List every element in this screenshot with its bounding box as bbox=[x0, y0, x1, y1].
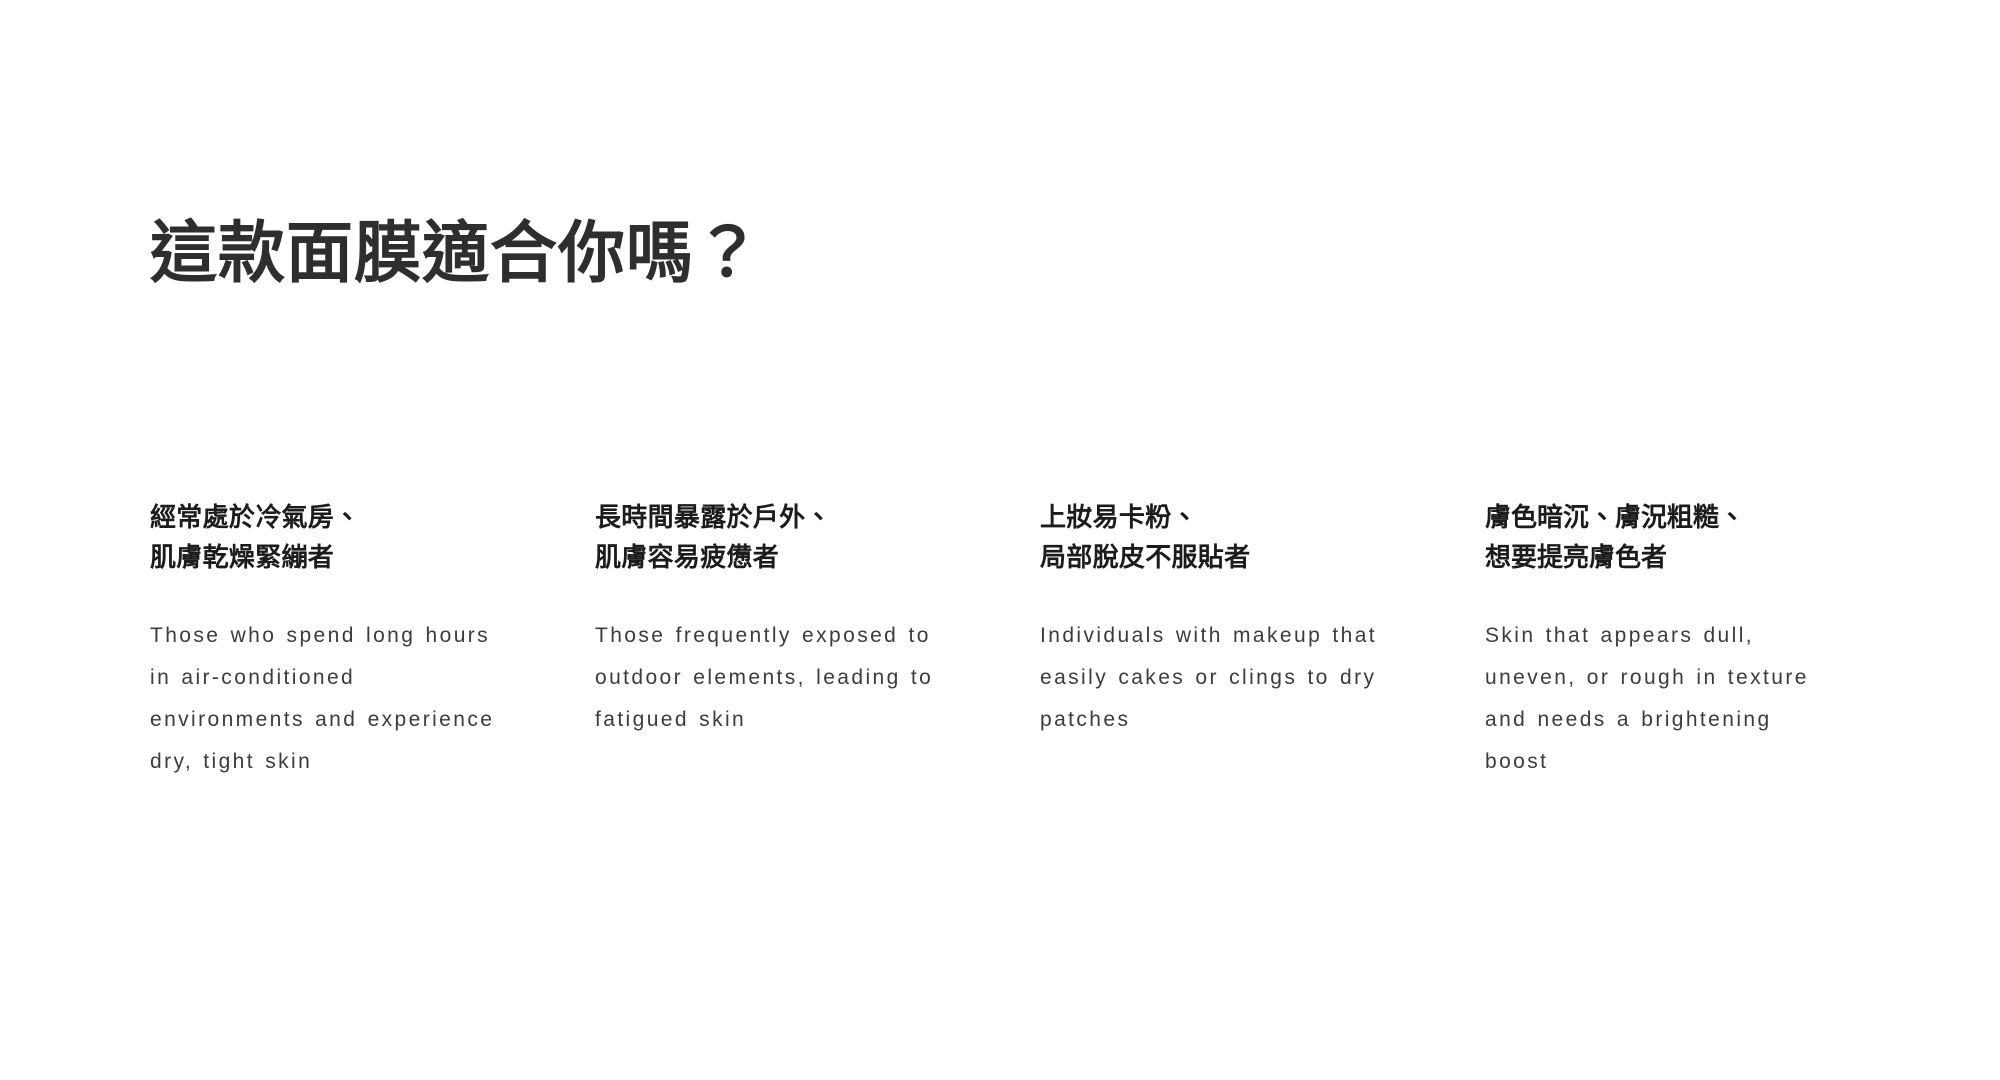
suitability-column-4: 膚色暗沉、膚況粗糙、 想要提亮膚色者 Skin that appears dul… bbox=[1485, 498, 1843, 783]
suitability-columns: 經常處於冷氣房、 肌膚乾燥緊繃者 Those who spend long ho… bbox=[150, 498, 1900, 783]
column-heading-2-line-1: 長時間暴露於戶外、 bbox=[595, 498, 953, 538]
slide-root: 這款面膜適合你嗎？ 經常處於冷氣房、 肌膚乾燥緊繃者 Those who spe… bbox=[0, 0, 2000, 1080]
column-heading-3-line-1: 上妝易卡粉、 bbox=[1040, 498, 1398, 538]
column-heading-3: 上妝易卡粉、 局部脫皮不服貼者 bbox=[1040, 498, 1398, 577]
column-heading-4: 膚色暗沉、膚況粗糙、 想要提亮膚色者 bbox=[1485, 498, 1843, 577]
suitability-column-3: 上妝易卡粉、 局部脫皮不服貼者 Individuals with makeup … bbox=[1040, 498, 1398, 741]
column-body-3: Individuals with makeup that easily cake… bbox=[1040, 615, 1398, 741]
column-heading-4-line-2: 想要提亮膚色者 bbox=[1485, 538, 1843, 578]
page-title: 這款面膜適合你嗎？ bbox=[150, 213, 762, 295]
column-heading-1-line-2: 肌膚乾燥緊繃者 bbox=[150, 538, 508, 578]
column-heading-2: 長時間暴露於戶外、 肌膚容易疲憊者 bbox=[595, 498, 953, 577]
column-heading-3-line-2: 局部脫皮不服貼者 bbox=[1040, 538, 1398, 578]
column-heading-4-line-1: 膚色暗沉、膚況粗糙、 bbox=[1485, 498, 1843, 538]
column-heading-1: 經常處於冷氣房、 肌膚乾燥緊繃者 bbox=[150, 498, 508, 577]
column-body-4: Skin that appears dull, uneven, or rough… bbox=[1485, 615, 1843, 783]
column-heading-1-line-1: 經常處於冷氣房、 bbox=[150, 498, 508, 538]
column-body-1: Those who spend long hours in air-condit… bbox=[150, 615, 508, 783]
column-body-2: Those frequently exposed to outdoor elem… bbox=[595, 615, 953, 741]
suitability-column-1: 經常處於冷氣房、 肌膚乾燥緊繃者 Those who spend long ho… bbox=[150, 498, 508, 783]
column-heading-2-line-2: 肌膚容易疲憊者 bbox=[595, 538, 953, 578]
suitability-column-2: 長時間暴露於戶外、 肌膚容易疲憊者 Those frequently expos… bbox=[595, 498, 953, 741]
